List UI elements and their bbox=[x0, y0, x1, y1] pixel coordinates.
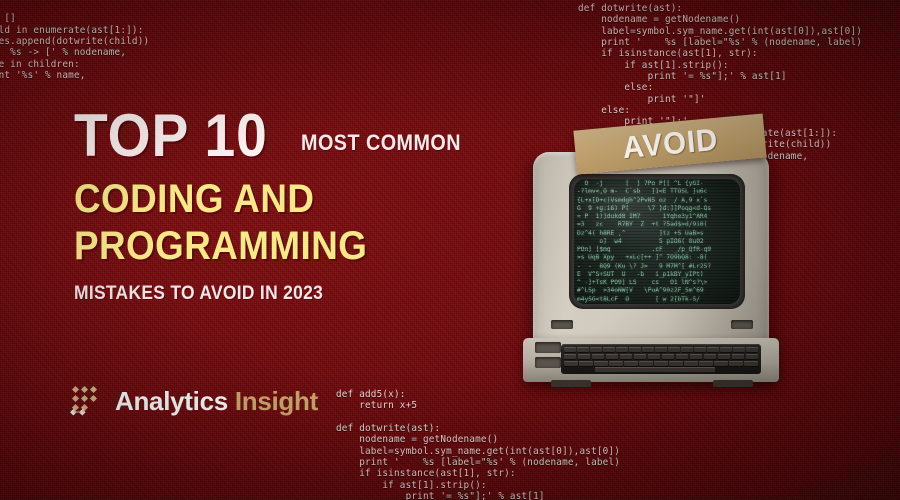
monitor-vent-left bbox=[551, 320, 573, 329]
headline-kicker: MOST COMMON bbox=[301, 130, 461, 163]
keyboard-row bbox=[564, 354, 758, 359]
headline-top-line: TOP 10 MOST COMMON bbox=[74, 108, 494, 163]
logo-wordmark: Analytics Insight bbox=[115, 386, 318, 417]
keyboard-row bbox=[564, 361, 758, 366]
logo-word-insight: Insight bbox=[235, 386, 318, 416]
analytics-insight-logo[interactable]: Analytics Insight bbox=[70, 383, 318, 419]
base-vent-top-left bbox=[535, 342, 561, 353]
logo-diamond-grid-icon bbox=[70, 383, 106, 419]
headline-block: TOP 10 MOST COMMON CODING AND PROGRAMMIN… bbox=[74, 108, 494, 305]
computer-foot bbox=[551, 380, 591, 387]
code-snippet-bottom: def add5(x): return x+5 def dotwrite(ast… bbox=[336, 389, 620, 500]
monitor-screen: O -j [ ] 7Po P[[ ^L {yGI- -?lmv<,O m- C`… bbox=[574, 179, 740, 304]
headline-line-1: CODING AND bbox=[74, 177, 460, 222]
headline-line-2: PROGRAMMING bbox=[74, 224, 460, 269]
poster-canvas: (ast) ast = [] for child in enumerate(as… bbox=[0, 0, 900, 500]
monitor-vent-right bbox=[731, 320, 753, 329]
avoid-label: AVOID bbox=[621, 122, 720, 167]
screen-terminal-text: O -j [ ] 7Po P[[ ^L {yGI- -?lmv<,O m- C`… bbox=[577, 180, 740, 304]
monitor-bezel: O -j [ ] 7Po P[[ ^L {yGI- -?lmv<,O m- C`… bbox=[569, 174, 745, 309]
headline-top-10: TOP 10 bbox=[74, 108, 268, 163]
logo-word-analytics: Analytics bbox=[115, 386, 228, 416]
code-snippet-top-left: (ast) ast = [] for child in enumerate(as… bbox=[0, 2, 149, 81]
keyboard-row bbox=[564, 347, 758, 352]
computer-foot bbox=[713, 380, 753, 387]
keyboard-spacebar bbox=[595, 367, 715, 372]
keyboard bbox=[561, 344, 761, 374]
base-vent-bottom-left bbox=[535, 357, 561, 368]
headline-subtitle: MISTAKES TO AVOID IN 2023 bbox=[74, 283, 460, 305]
monitor-body: O -j [ ] 7Po P[[ ^L {yGI- -?lmv<,O m- C`… bbox=[533, 152, 769, 352]
retro-computer-illustration: O -j [ ] 7Po P[[ ^L {yGI- -?lmv<,O m- C`… bbox=[521, 152, 783, 388]
